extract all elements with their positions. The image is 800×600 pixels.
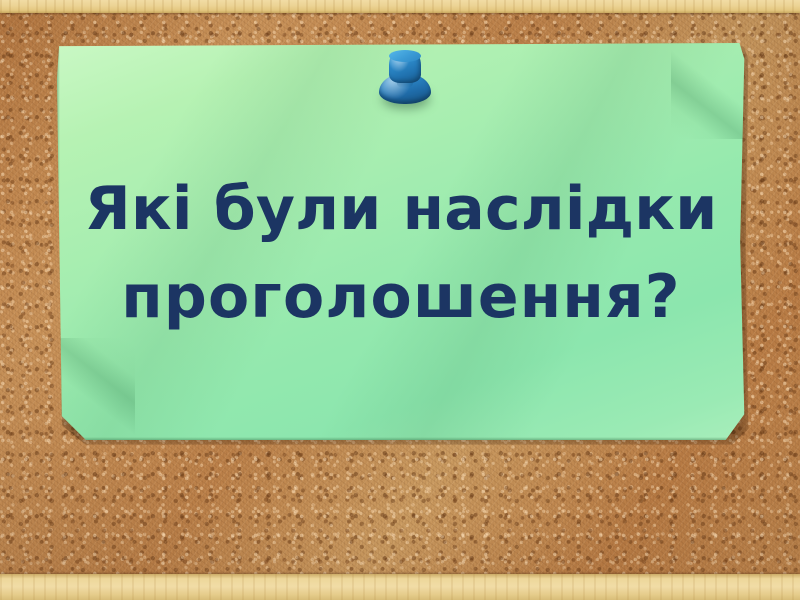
frame-strip-top [0,0,800,13]
note-edge-shadow-bottom [57,437,745,440]
slide-canvas: Які були наслідки проголошення? [0,0,800,600]
note-question-text: Які були наслідки проголошення? [57,165,745,341]
note-text-line-2: проголошення? [57,253,745,341]
pushpin-icon [376,49,434,111]
note-corner-curl-top-right [671,43,745,139]
frame-strip-bottom [0,574,800,600]
note-text-line-1: Які були наслідки [57,165,745,253]
pushpin-cap-top [389,50,421,62]
